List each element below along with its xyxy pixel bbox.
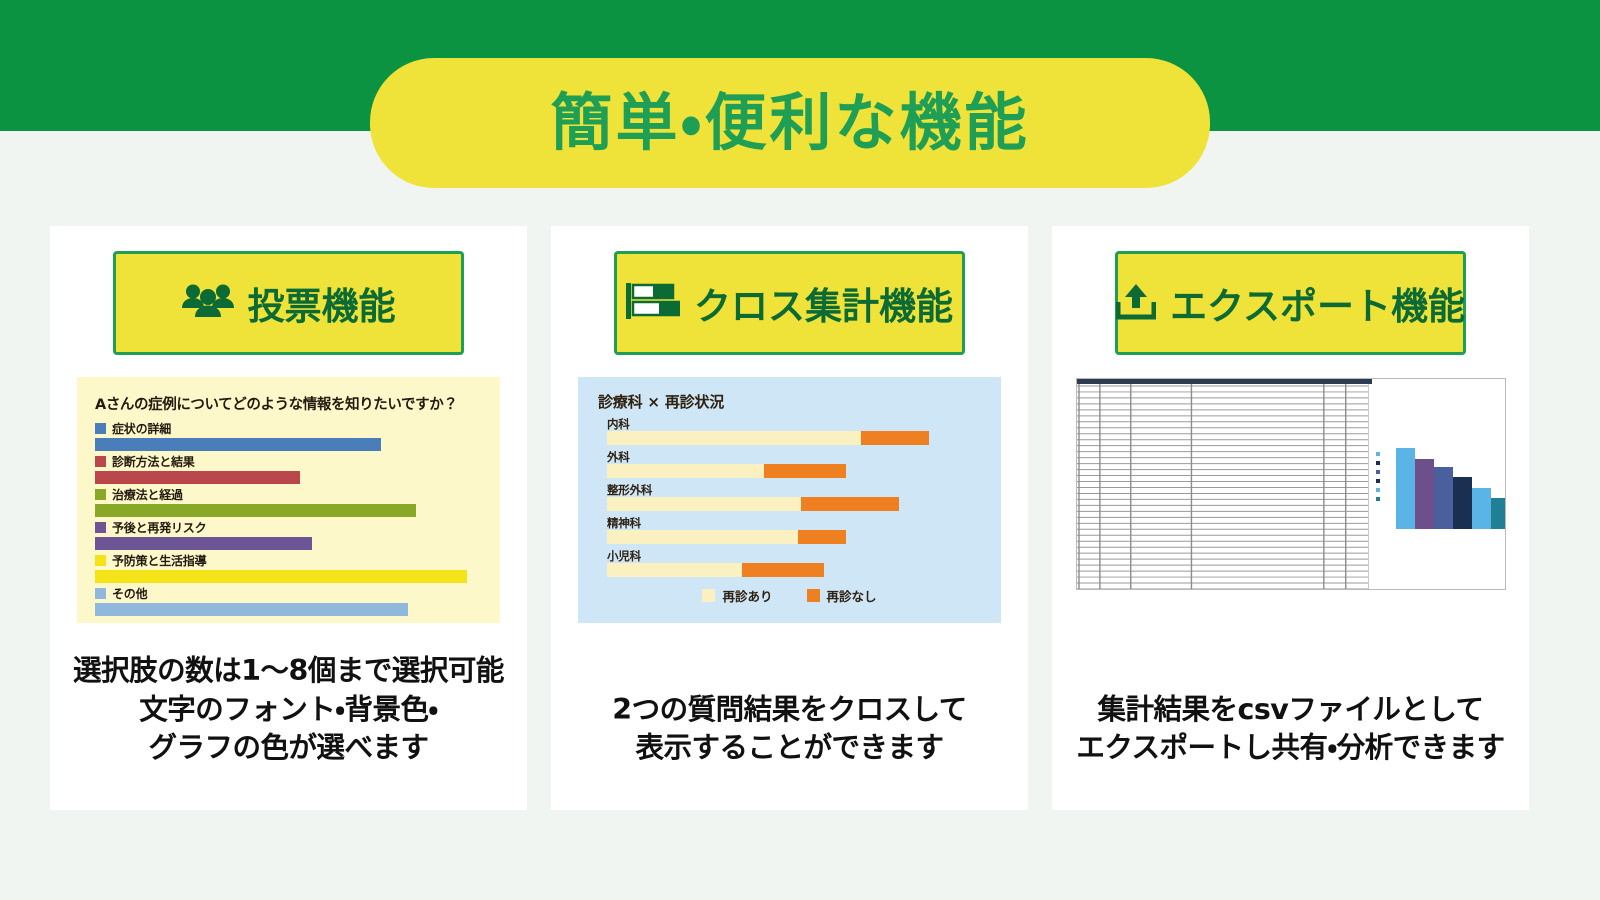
feature-card-export[interactable]: エクスポート機能 bbox=[1052, 226, 1529, 810]
page-title: 簡単・便利な機能 bbox=[550, 92, 1029, 154]
poll-chart-panel: Aさんの症例についてどのような情報を知りたいですか？ 症状の詳細 診断方法と結果 bbox=[77, 377, 500, 623]
legend-dot bbox=[1376, 497, 1380, 501]
poll-color-swatch bbox=[95, 423, 106, 434]
crosstab-category-label: 精神科 bbox=[607, 515, 981, 530]
caption-line: 集計結果をcsvファイルとして bbox=[1052, 691, 1529, 730]
caption-line: 文字のフォント・背景色・ bbox=[50, 691, 527, 730]
legend-dot bbox=[1376, 479, 1380, 483]
poll-bar bbox=[95, 504, 416, 517]
crosstab-segment-revisit-no bbox=[742, 563, 824, 577]
legend-dot bbox=[1376, 470, 1380, 474]
caption-line: 2つの質問結果をクロスして bbox=[551, 691, 1028, 730]
poll-option-label: 予防策と生活指導 bbox=[112, 552, 206, 569]
embedded-chart-legend bbox=[1376, 452, 1380, 501]
legend-label: 再診あり bbox=[722, 586, 772, 605]
poll-bar-item: 診断方法と結果 bbox=[95, 453, 482, 484]
card-header-chip-export: エクスポート機能 bbox=[1115, 251, 1466, 355]
crosstab-category-label: 外科 bbox=[607, 449, 981, 464]
crosstab-segment-revisit-no bbox=[801, 497, 898, 511]
poll-color-swatch bbox=[95, 489, 106, 500]
crosstab-stacked-bar bbox=[607, 431, 981, 445]
crosstab-bar-item: 外科 bbox=[607, 449, 981, 478]
embedded-chart-bar bbox=[1396, 448, 1415, 529]
poll-bar-item: 症状の詳細 bbox=[95, 420, 482, 451]
poll-bar-item: その他 bbox=[95, 585, 482, 616]
crosstab-bar-item: 整形外科 bbox=[607, 482, 981, 511]
crosstab-segment-revisit-yes bbox=[607, 431, 861, 445]
card-title-crosstab: クロス集計機能 bbox=[694, 276, 953, 330]
crosstab-bar-item: 小児科 bbox=[607, 548, 981, 577]
poll-bar-item: 治療法と経過 bbox=[95, 486, 482, 517]
legend-dot bbox=[1376, 452, 1380, 456]
legend-item-revisit-no: 再診なし bbox=[807, 586, 877, 605]
people-group-icon bbox=[182, 283, 234, 324]
crosstab-stacked-bar bbox=[607, 530, 981, 544]
card-header-chip-poll: 投票機能 bbox=[113, 251, 464, 355]
crosstab-segment-revisit-no bbox=[861, 431, 928, 445]
poll-color-swatch bbox=[95, 522, 106, 533]
crosstab-stacked-bar bbox=[607, 464, 981, 478]
poll-bar bbox=[95, 570, 467, 583]
feature-card-crosstab[interactable]: クロス集計機能 診療科 × 再診状況 内科 外科 整形外科 bbox=[551, 226, 1028, 810]
embedded-chart-bar bbox=[1434, 467, 1453, 529]
caption-line: 表示することができます bbox=[551, 729, 1028, 768]
card-title-export: エクスポート機能 bbox=[1170, 276, 1465, 330]
card-caption-crosstab: 2つの質問結果をクロスして 表示することができます bbox=[551, 691, 1028, 769]
poll-color-swatch bbox=[95, 456, 106, 467]
poll-bar bbox=[95, 438, 381, 451]
spreadsheet-preview bbox=[1076, 378, 1506, 590]
poll-bar bbox=[95, 471, 300, 484]
poll-option-label: 症状の詳細 bbox=[112, 420, 171, 437]
poll-option-label: 診断方法と結果 bbox=[112, 453, 195, 470]
legend-label: 再診なし bbox=[827, 586, 877, 605]
embedded-chart-bar bbox=[1415, 459, 1434, 529]
embedded-chart-bar bbox=[1472, 488, 1491, 529]
embedded-chart-bar bbox=[1491, 498, 1505, 529]
card-caption-export: 集計結果をcsvファイルとして エクスポートし共有・分析できます bbox=[1052, 691, 1529, 769]
legend-dot bbox=[1376, 488, 1380, 492]
page-title-pill: 簡単・便利な機能 bbox=[370, 58, 1210, 188]
crosstab-category-label: 内科 bbox=[607, 416, 981, 431]
caption-line: グラフの色が選べます bbox=[50, 729, 527, 768]
embedded-chart-bars bbox=[1396, 439, 1505, 529]
bar-chart-icon bbox=[626, 281, 680, 326]
legend-item-revisit-yes: 再診あり bbox=[702, 586, 772, 605]
poll-option-label: その他 bbox=[112, 585, 147, 602]
crosstab-bar-item: 内科 bbox=[607, 416, 981, 445]
embedded-bar-chart[interactable] bbox=[1368, 379, 1505, 589]
crosstab-chart-panel: 診療科 × 再診状況 内科 外科 整形外科 bbox=[578, 377, 1001, 623]
poll-bar bbox=[95, 603, 408, 616]
crosstab-category-label: 整形外科 bbox=[607, 482, 981, 497]
poll-color-swatch bbox=[95, 555, 106, 566]
export-upload-icon bbox=[1116, 282, 1156, 325]
crosstab-segment-revisit-no bbox=[798, 530, 847, 544]
crosstab-segment-revisit-yes bbox=[607, 563, 742, 577]
crosstab-bar-item: 精神科 bbox=[607, 515, 981, 544]
legend-swatch bbox=[807, 589, 820, 602]
crosstab-title: 診療科 × 再診状況 bbox=[598, 391, 981, 412]
crosstab-segment-revisit-yes bbox=[607, 464, 764, 478]
crosstab-segment-revisit-yes bbox=[607, 497, 801, 511]
crosstab-stacked-bar bbox=[607, 563, 981, 577]
poll-color-swatch bbox=[95, 588, 106, 599]
feature-card-poll[interactable]: 投票機能 Aさんの症例についてどのような情報を知りたいですか？ 症状の詳細 診断… bbox=[50, 226, 527, 810]
feature-cards-row: 投票機能 Aさんの症例についてどのような情報を知りたいですか？ 症状の詳細 診断… bbox=[50, 226, 1550, 810]
caption-line: エクスポートし共有・分析できます bbox=[1052, 729, 1529, 768]
poll-question-text: Aさんの症例についてどのような情報を知りたいですか？ bbox=[95, 393, 482, 414]
poll-bar bbox=[95, 537, 312, 550]
crosstab-segment-revisit-yes bbox=[607, 530, 798, 544]
poll-bar-item: 予防策と生活指導 bbox=[95, 552, 482, 583]
embedded-chart-bar bbox=[1453, 477, 1472, 529]
crosstab-category-label: 小児科 bbox=[607, 548, 981, 563]
card-title-poll: 投票機能 bbox=[248, 276, 396, 330]
poll-option-label: 治療法と経過 bbox=[112, 486, 183, 503]
spreadsheet-header-row bbox=[1077, 379, 1372, 384]
poll-option-label: 予後と再発リスク bbox=[112, 519, 206, 536]
crosstab-segment-revisit-no bbox=[764, 464, 846, 478]
legend-dot bbox=[1376, 461, 1380, 465]
crosstab-legend: 再診あり 再診なし bbox=[598, 586, 981, 605]
card-caption-poll: 選択肢の数は1〜8個まで選択可能 文字のフォント・背景色・ グラフの色が選べます bbox=[50, 652, 527, 768]
legend-swatch bbox=[702, 589, 715, 602]
card-header-chip-crosstab: クロス集計機能 bbox=[614, 251, 965, 355]
crosstab-stacked-bar bbox=[607, 497, 981, 511]
poll-bar-item: 予後と再発リスク bbox=[95, 519, 482, 550]
caption-line: 選択肢の数は1〜8個まで選択可能 bbox=[50, 652, 527, 691]
